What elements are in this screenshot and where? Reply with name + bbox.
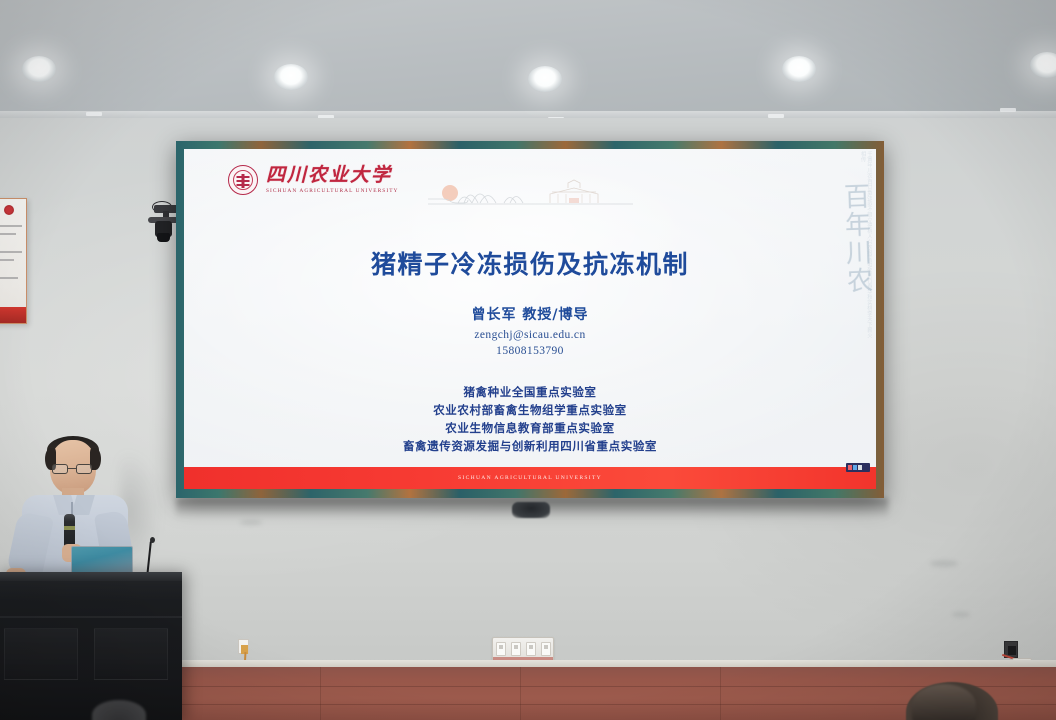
ceiling-light-1: [22, 56, 56, 82]
lab-line: 农业生物信息教育部重点实验室: [184, 419, 876, 437]
slide-lab-affiliations: 猪禽种业全国重点实验室 农业农村部畜禽生物组学重点实验室 农业生物信息教育部重点…: [184, 383, 876, 455]
notice-board-text-line: [0, 277, 18, 279]
ceiling-light-2: [274, 64, 308, 90]
ceiling-strip-light-1: [86, 112, 102, 116]
podium-panel-right: [94, 628, 168, 680]
slide-email: zengchj@sicau.edu.cn: [184, 329, 876, 341]
gooseneck-microphone-head: [150, 537, 155, 543]
audience-hair-right: [912, 684, 976, 720]
light-switch[interactable]: [496, 642, 506, 656]
floor-tile-seam: [520, 667, 521, 720]
logo-chinese-name: 四川农业大学: [266, 166, 398, 185]
light-switch[interactable]: [541, 642, 551, 656]
floor-tile-seam: [720, 667, 721, 720]
podium-panel-left: [4, 628, 78, 680]
podium-edge: [0, 616, 182, 618]
widget-dot: [858, 465, 862, 470]
seal-core-glyph: [237, 174, 250, 188]
equipment-on-ledge: [512, 502, 550, 518]
lecture-podium: [0, 572, 182, 720]
ceiling-strip-light-5: [1000, 108, 1016, 112]
presenter-glasses-bridge: [68, 468, 76, 469]
projection-screen[interactable]: 壬寅年川农百廿载弦歌不辍立德树人兴农报国砥砺前行春华秋实桃李天下薪火相传 百年川…: [176, 141, 884, 498]
podium-top-surface: [0, 572, 182, 581]
slide-footer-banner: SICHUAN AGRICULTURAL UNIVERSITY: [184, 467, 876, 489]
slide-footer-text: SICHUAN AGRICULTURAL UNIVERSITY: [458, 475, 602, 481]
wall-notice-board: [0, 198, 27, 324]
calligraphy-watermark: 百年川农: [777, 154, 871, 327]
ceiling-light-3: [528, 66, 562, 92]
lecture-hall-photo: 壬寅年川农百廿载弦歌不辍立德树人兴农报国砥砺前行春华秋实桃李天下薪火相传 百年川…: [0, 0, 1056, 720]
light-switch-panel[interactable]: [492, 637, 554, 661]
wall-scuff-3: [240, 520, 262, 525]
lab-line: 猪禽种业全国重点实验室: [184, 383, 876, 401]
presenter-glasses-left-lens: [52, 464, 68, 474]
notice-board-emblem-icon: [4, 205, 14, 215]
light-switch[interactable]: [526, 642, 536, 656]
wall-scuff-1: [930, 560, 958, 567]
slide-surface[interactable]: 壬寅年川农百廿载弦歌不辍立德树人兴农报国砥砺前行春华秋实桃李天下薪火相传 百年川…: [184, 149, 876, 489]
wall-scuff-2: [952, 612, 970, 617]
light-switch[interactable]: [511, 642, 521, 656]
widget-dot: [853, 465, 857, 470]
slide-presenter-name: 曾长军 教授/博导: [184, 304, 876, 324]
slide-phone: 15808153790: [184, 345, 876, 357]
taskbar-widget-icon[interactable]: [846, 463, 870, 472]
microphone-band: [64, 526, 75, 530]
presenter-glasses-right-lens: [76, 464, 92, 474]
slide-logo: 四川农业大学 SICHUAN AGRICULTURAL UNIVERSITY: [228, 165, 398, 195]
lab-line: 农业农村部畜禽生物组学重点实验室: [184, 401, 876, 419]
ceiling: [0, 0, 1056, 122]
notice-board-text-line: [0, 225, 22, 227]
camera-lens: [157, 233, 170, 242]
ceiling-light-5: [1030, 52, 1056, 78]
logo-english-name: SICHUAN AGRICULTURAL UNIVERSITY: [266, 188, 398, 194]
notice-board-text-line: [0, 233, 16, 235]
sun-mountains-building-line-art-icon: [428, 177, 638, 211]
floor-tile-seam: [320, 667, 321, 720]
slide-title: 猪精子冷冻损伤及抗冻机制: [184, 245, 876, 281]
notice-board-red-band: [0, 307, 26, 323]
notice-board-text-line: [0, 259, 14, 261]
university-seal-icon: [228, 165, 258, 195]
lab-line: 畜禽遗传资源发掘与创新利用四川省重点实验室: [184, 437, 876, 455]
widget-dot: [848, 465, 852, 470]
notice-board-text-line: [0, 251, 22, 253]
ceiling-light-4: [782, 56, 816, 82]
